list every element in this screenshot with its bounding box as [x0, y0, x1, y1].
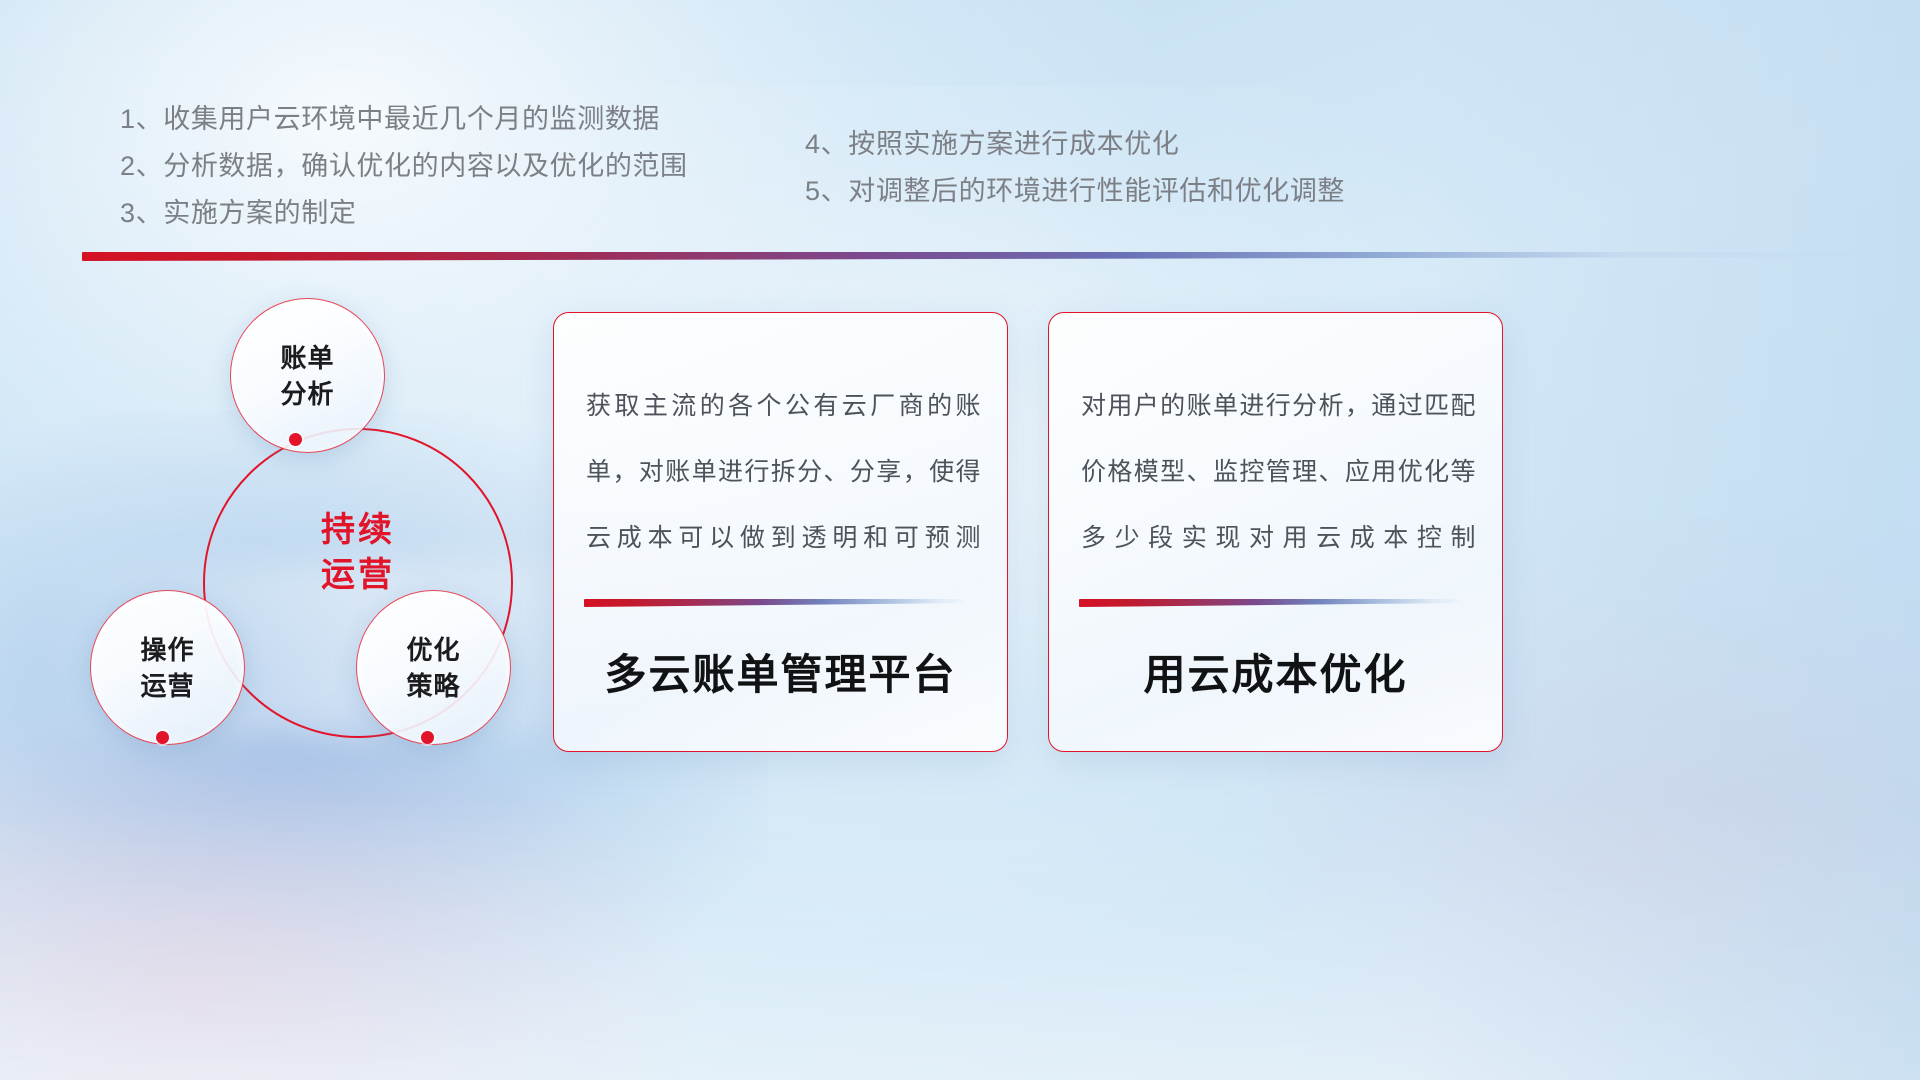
continuous-operation-diagram: 持续 运营 账单 分析 操作 运营 优化 策略: [78, 290, 548, 770]
diagram-center-label-line2: 运营: [203, 553, 513, 598]
feature-card-multicloud-billing[interactable]: 获取主流的各个公有云厂商的账单，对账单进行拆分、分享，使得云成本可以做到透明和可…: [553, 312, 1008, 752]
steps-list-right: 4、按照实施方案进行成本优化 5、对调整后的环境进行性能评估和优化调整: [805, 121, 1345, 215]
step-item-4: 4、按照实施方案进行成本优化: [805, 121, 1345, 168]
feature-card-1-body: 获取主流的各个公有云厂商的账单，对账单进行拆分、分享，使得云成本可以做到透明和可…: [586, 373, 981, 571]
feature-card-2-divider: [1079, 599, 1464, 607]
diagram-node-bill-analysis-label: 账单 分析: [280, 340, 334, 412]
diagram-node-operation[interactable]: 操作 运营: [90, 590, 245, 745]
diagram-node-optimization-strategy[interactable]: 优化 策略: [356, 590, 511, 745]
node-line1: 优化: [406, 635, 460, 665]
step-item-1: 1、收集用户云环境中最近几个月的监测数据: [120, 96, 688, 143]
node-line1: 操作: [140, 635, 194, 665]
feature-card-cloud-cost-optimization[interactable]: 对用户的账单进行分析，通过匹配价格模型、监控管理、应用优化等多少段实现对用云成本…: [1048, 312, 1503, 752]
diagram-node-bill-analysis[interactable]: 账单 分析: [230, 298, 385, 453]
feature-card-1-divider: [584, 599, 969, 607]
node-line2: 分析: [280, 379, 334, 409]
feature-card-1-title: 多云账单管理平台: [554, 641, 1007, 702]
node-line2: 运营: [140, 671, 194, 701]
diagram-connector-dot-top: [289, 433, 302, 446]
node-line2: 策略: [406, 671, 460, 701]
node-line1: 账单: [280, 343, 334, 373]
diagram-node-operation-label: 操作 运营: [140, 632, 194, 704]
step-item-5: 5、对调整后的环境进行性能评估和优化调整: [805, 168, 1345, 215]
diagram-center-label-line1: 持续: [203, 508, 513, 553]
diagram-connector-dot-left: [156, 731, 169, 744]
feature-card-2-body: 对用户的账单进行分析，通过匹配价格模型、监控管理、应用优化等多少段实现对用云成本…: [1081, 373, 1476, 571]
diagram-node-optimization-strategy-label: 优化 策略: [406, 632, 460, 704]
section-divider-rule: [82, 252, 1872, 261]
steps-list-left: 1、收集用户云环境中最近几个月的监测数据 2、分析数据，确认优化的内容以及优化的…: [120, 96, 688, 237]
diagram-center-label: 持续 运营: [203, 508, 513, 598]
step-item-3: 3、实施方案的制定: [120, 190, 688, 237]
step-item-2: 2、分析数据，确认优化的内容以及优化的范围: [120, 143, 688, 190]
feature-card-2-title: 用云成本优化: [1049, 641, 1502, 702]
diagram-connector-dot-right: [421, 731, 434, 744]
